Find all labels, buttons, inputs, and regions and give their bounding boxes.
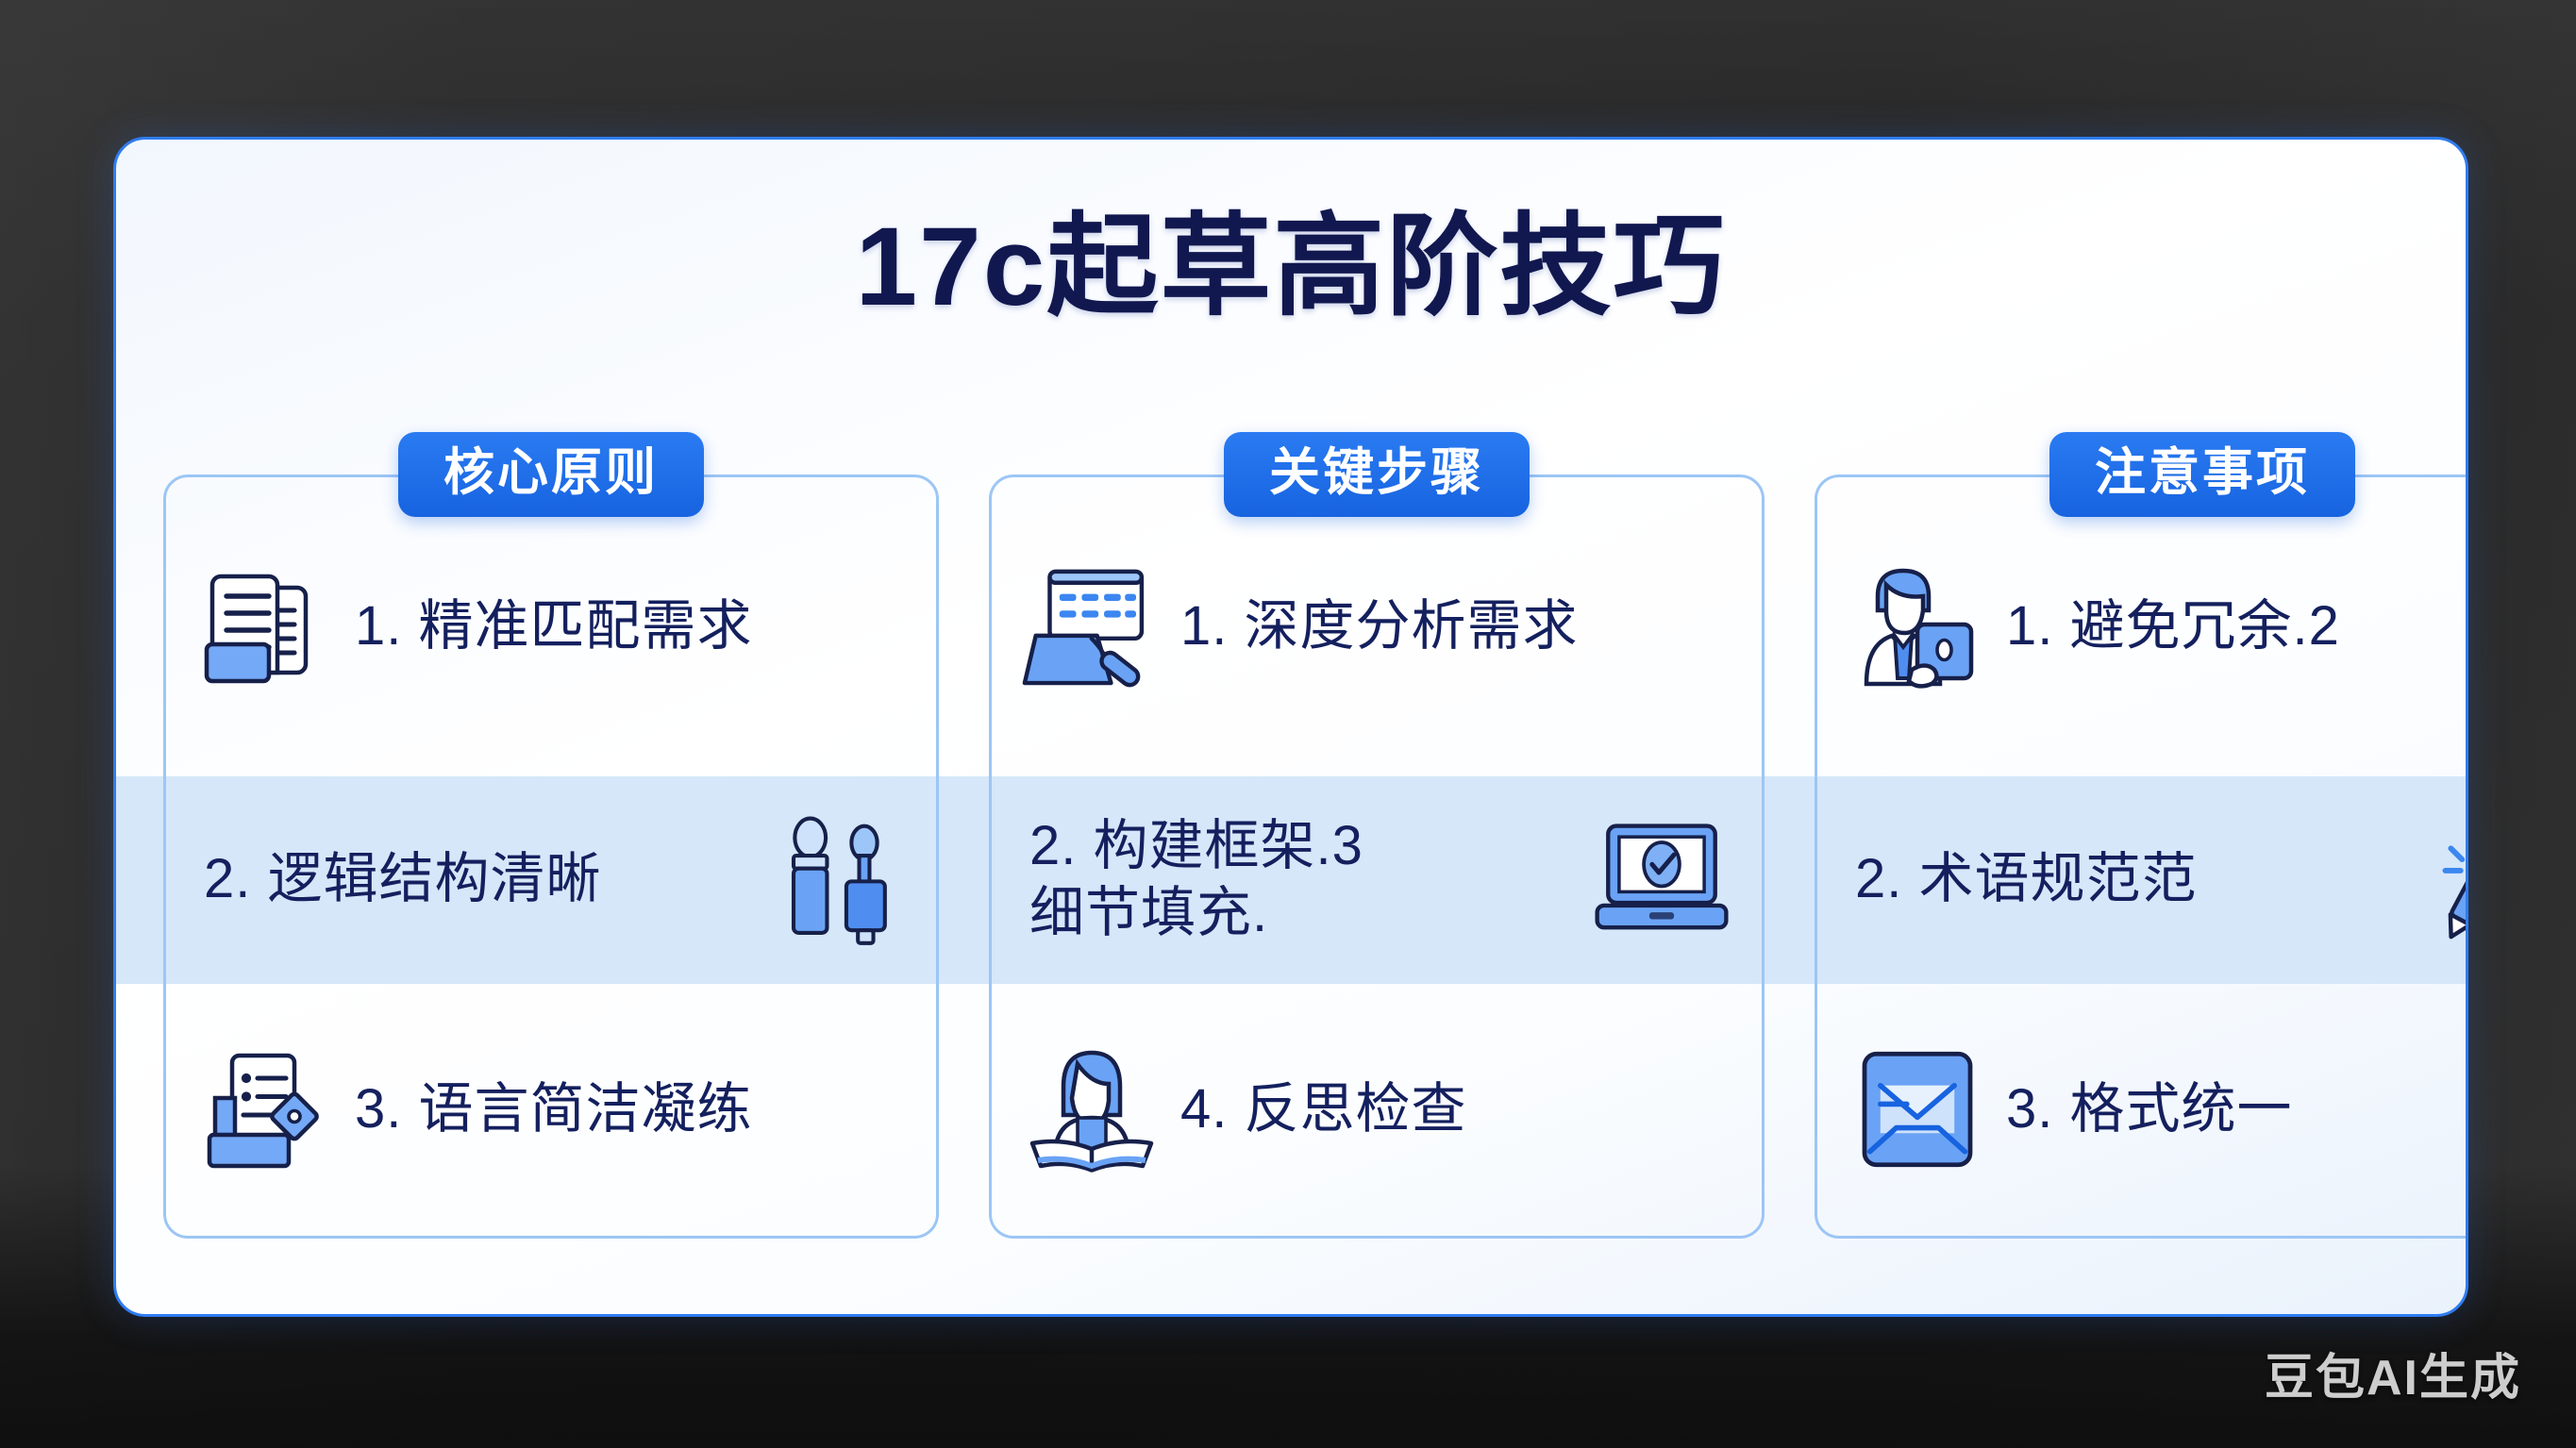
businessman-tablet-icon <box>1842 552 1993 703</box>
list-item-label: 3. 格式统一 <box>1993 1076 2468 1143</box>
list-item-label: 1. 精准匹配需求 <box>342 593 912 660</box>
laptop-check-icon <box>1586 805 1737 956</box>
list-item[interactable]: 1. 深度分析需求 <box>992 477 1762 777</box>
list-item-label: 4. 反思检查 <box>1167 1076 1737 1143</box>
list-item[interactable]: 2. 构建框架.3 细节填充. <box>992 777 1762 983</box>
pins-chart-icon <box>761 805 912 956</box>
document-tag-icon <box>191 1034 342 1185</box>
presentation-board-icon <box>1016 552 1167 703</box>
list-item[interactable]: 4. 反思检查 <box>992 983 1762 1236</box>
clipboard-pencil-icon <box>2412 805 2468 956</box>
infographic-panel: 17c起草高阶技巧 核心原则 <box>113 137 2468 1317</box>
envelope-icon <box>1842 1034 1993 1185</box>
column-rows: 1. 避免冗余.2 <box>1817 477 2468 1236</box>
list-item-label: 3. 语言简洁凝练 <box>342 1076 912 1143</box>
list-item[interactable]: 1. 避免冗余.2 <box>1817 477 2468 777</box>
list-item-label: 2. 逻辑结构清晰 <box>191 846 761 913</box>
person-reading-icon <box>1016 1034 1167 1185</box>
watermark: 豆包AI生成 <box>2265 1338 2521 1408</box>
list-item-label: 1. 深度分析需求 <box>1167 593 1737 660</box>
column-rows: 1. 精准匹配需求 <box>166 477 936 1236</box>
list-item-label: 2. 构建框架.3 细节填充. <box>1016 813 1586 947</box>
list-item[interactable]: 1. 精准匹配需求 <box>166 477 936 777</box>
columns-container: 核心原则 <box>116 140 2466 1314</box>
documents-stack-icon <box>191 552 342 703</box>
list-item[interactable]: 2. 逻辑结构清晰 <box>166 777 936 983</box>
list-item-label: 2. 术语规范范 <box>1842 846 2412 913</box>
list-item[interactable]: 3. 语言简洁凝练 <box>166 983 936 1236</box>
column-precautions: 注意事项 1. <box>1815 474 2468 1239</box>
list-item[interactable]: 2. 术语规范范 <box>1817 777 2468 983</box>
list-item[interactable]: 3. 格式统一 <box>1817 983 2468 1236</box>
column-key-steps: 关键步骤 <box>989 474 1765 1239</box>
column-rows: 1. 深度分析需求 <box>992 477 1762 1236</box>
column-core-principles: 核心原则 <box>163 474 939 1239</box>
list-item-label: 1. 避免冗余.2 <box>1993 593 2468 660</box>
